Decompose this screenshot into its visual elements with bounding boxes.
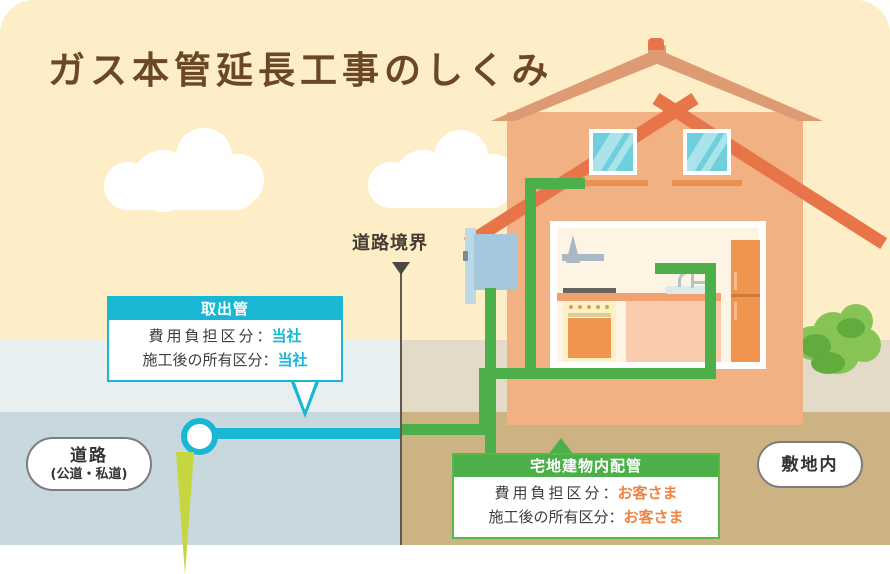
kitchen-countertop <box>557 293 721 301</box>
window-left <box>589 129 637 175</box>
callout-green-row-ownership-label: 施工後の所有区分 <box>488 508 608 526</box>
callout-blue-rows: 費用負担区分：当社 施工後の所有区分：当社 <box>109 320 341 378</box>
callout-blue-row-cost-value: 当社 <box>272 327 302 345</box>
refrigerator-handle-upper <box>734 272 737 290</box>
pipe-upper-branch <box>525 178 585 189</box>
pipe-house-riser <box>525 178 536 379</box>
callout-green-row-ownership: 施工後の所有区分：お客さま <box>454 505 718 529</box>
refrigerator-door-split <box>731 294 760 297</box>
callout-green-rows: 費用負担区分：お客さま 施工後の所有区分：お客さま <box>454 477 718 535</box>
range-hood-lip <box>562 254 604 261</box>
callout-takuchi-haikan: 宅地建物内配管 費用負担区分：お客さま 施工後の所有区分：お客さま <box>452 453 720 539</box>
callout-blue-tail-inner <box>294 380 316 410</box>
window-right <box>683 129 731 175</box>
cloud-left-icon <box>104 128 264 200</box>
callout-blue-row-ownership-value: 当社 <box>278 351 308 369</box>
pipe-kitchen-branch <box>525 368 716 379</box>
callout-takedashikan: 取出管 費用負担区分：当社 施工後の所有区分：当社 <box>107 296 343 382</box>
callout-green-row-cost-sep: ： <box>602 484 617 502</box>
bush-icon <box>795 300 885 380</box>
pipe-buried-corner-riser <box>479 368 490 435</box>
page-title: ガス本管延長工事のしくみ <box>48 40 553 94</box>
callout-green-row-ownership-value: お客さま <box>624 508 684 526</box>
callout-green-row-cost-label: 費用負担区分 <box>494 484 602 502</box>
callout-green-row-cost: 費用負担区分：お客さま <box>454 481 718 505</box>
badge-road: 道路 (公道・私道) <box>26 437 152 491</box>
window-sill-right <box>672 180 742 186</box>
badge-road-line1: 道路 <box>28 446 150 466</box>
callout-blue-row-ownership-label: 施工後の所有区分 <box>142 351 262 369</box>
callout-green-header: 宅地建物内配管 <box>454 455 718 477</box>
pipe-buried-to-boundary <box>400 424 490 435</box>
pipe-appliance-top <box>655 263 716 274</box>
oven-handle <box>568 313 611 317</box>
main-connection-node <box>181 418 218 455</box>
gas-meter-box <box>474 234 518 290</box>
road-boundary-label: 道路境界 <box>352 229 428 255</box>
callout-blue-row-ownership-sep: ： <box>262 351 277 369</box>
badge-site: 敷地内 <box>757 441 863 488</box>
callout-green-row-ownership-sep: ： <box>608 508 623 526</box>
cloud-right-icon <box>368 130 518 200</box>
pipe-service-line <box>198 428 402 439</box>
callout-green-row-cost-value: お客さま <box>618 484 678 502</box>
callout-blue-row-cost: 費用負担区分：当社 <box>109 324 341 348</box>
window-sill-left <box>578 180 648 186</box>
roof-ridge-cap <box>648 38 664 50</box>
callout-blue-row-cost-sep: ： <box>256 327 271 345</box>
refrigerator-icon <box>731 240 760 362</box>
pipe-appliance-riser <box>705 263 716 373</box>
oven-door <box>568 318 611 358</box>
road-boundary-line <box>400 265 402 545</box>
light-beam-icon <box>176 452 194 574</box>
stove-knob-panel <box>563 301 616 313</box>
callout-blue-row-ownership: 施工後の所有区分：当社 <box>109 348 341 372</box>
gas-meter-latch <box>463 251 468 261</box>
down-triangle-icon <box>392 262 410 275</box>
refrigerator-handle-lower <box>734 302 737 320</box>
infographic-canvas: 道路境界 ガス本管延長工事のしくみ 取出管 費用負担区分：当社 施工後の所有区分… <box>0 0 890 574</box>
badge-site-line1: 敷地内 <box>759 454 861 476</box>
badge-road-line2: (公道・私道) <box>28 466 150 483</box>
callout-blue-row-cost-label: 費用負担区分 <box>148 327 256 345</box>
callout-blue-header: 取出管 <box>109 298 341 320</box>
